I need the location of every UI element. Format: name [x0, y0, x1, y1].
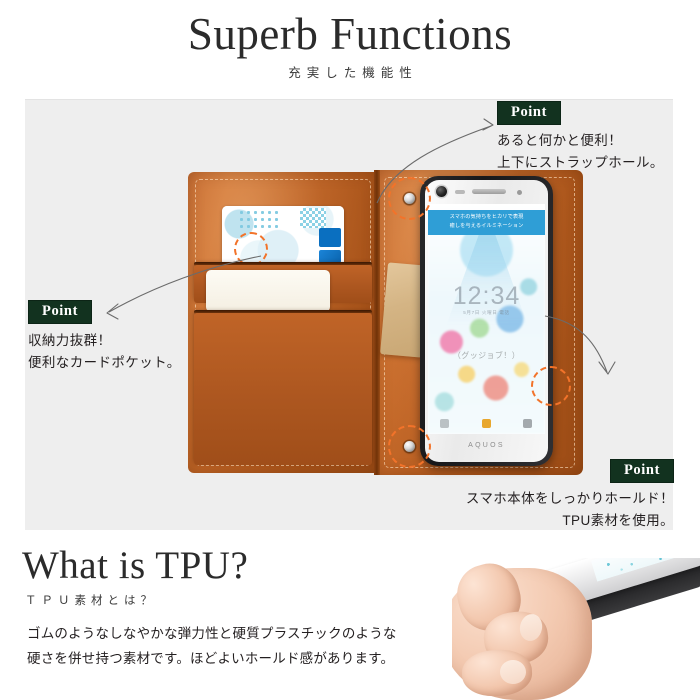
card-dot-motif	[238, 209, 282, 231]
phone-screen: スマホの気持ちをヒカリで表現 癒しを与えるイルミネーション 12:34 5月7日…	[428, 204, 545, 434]
lockscreen-clock: 12:34	[428, 282, 545, 311]
tpu-flex-demo-photo	[452, 558, 700, 700]
screen-banner: スマホの気持ちをヒカリで表現 癒しを与えるイルミネーション	[428, 210, 545, 235]
lockscreen-date: 5月7日 火曜日 電話	[428, 310, 545, 316]
callout-line-1: 収納力抜群！	[28, 330, 181, 352]
point-badge: Point	[610, 459, 674, 483]
callout-line-2: 上下にストラップホール。	[497, 152, 664, 174]
callout-line-1: スマホ本体をしっかりホールド！	[447, 488, 674, 510]
card-highlight-circle	[234, 232, 268, 266]
camera-shortcut-icon	[523, 419, 532, 428]
phone-shortcut-icon	[440, 419, 449, 428]
phone-top-bezel	[425, 180, 548, 204]
card-blue-block-upper	[319, 228, 341, 247]
lockscreen-shortcut-bar	[428, 417, 545, 430]
tpu-section-title: What is TPU?	[22, 543, 248, 588]
callout-text: スマホ本体をしっかりホールド！ TPU素材を使用。	[447, 488, 674, 532]
notification-led-icon	[517, 190, 522, 195]
page-subtitle: 充実した機能性	[0, 62, 700, 81]
tpu-section-body: ゴムのようなしなやかな弾力性と硬質プラスチックのような 硬さを併せ持つ素材です。…	[27, 622, 447, 672]
tpu-section-subtitle: ＴＰＵ素材とは？	[25, 592, 157, 608]
bottom-strap-highlight-circle	[388, 425, 431, 468]
callout-line-2: TPU素材を使用。	[447, 510, 674, 532]
product-feature-page: Superb Functions 充実した機能性	[0, 0, 700, 700]
callout-line-2: 便利なカードポケット。	[28, 352, 181, 374]
tpu-body-line-2: 硬さを併せ持つ素材です。ほどよいホールド感があります。	[27, 647, 447, 672]
tpu-body-line-1: ゴムのようなしなやかな弾力性と硬質プラスチックのような	[27, 622, 447, 647]
earpiece-speaker-icon	[472, 189, 506, 194]
phone-brand-label: AQUOS	[428, 436, 545, 456]
proximity-sensor-icon	[455, 190, 465, 194]
screen-banner-line1: スマホの気持ちをヒカリで表現	[428, 213, 545, 222]
callout-text: あると何かと便利！ 上下にストラップホール。	[497, 130, 664, 174]
point-badge: Point	[497, 101, 561, 125]
card-pocket-slot-2	[194, 313, 372, 465]
blank-card	[206, 270, 330, 312]
page-title: Superb Functions	[0, 10, 700, 59]
callout-card-pocket: Point 収納力抜群！ 便利なカードポケット。	[28, 300, 181, 374]
card-check-motif	[300, 208, 326, 228]
hand	[452, 568, 592, 700]
phone-body: スマホの気持ちをヒカリで表現 癒しを与えるイルミネーション 12:34 5月7日…	[425, 180, 548, 462]
smartphone: スマホの気持ちをヒカリで表現 癒しを与えるイルミネーション 12:34 5月7日…	[420, 176, 553, 466]
screen-banner-line2: 癒しを与えるイルミネーション	[428, 222, 545, 231]
tpu-hold-highlight-circle	[531, 366, 571, 406]
screen-message: （グッジョブ！）	[428, 350, 545, 361]
point-badge: Point	[28, 300, 92, 324]
wallet-case-photo: スマホの気持ちをヒカリで表現 癒しを与えるイルミネーション 12:34 5月7日…	[188, 170, 583, 475]
page-header: Superb Functions 充実した機能性	[0, 0, 700, 92]
callout-line-1: あると何かと便利！	[497, 130, 664, 152]
callout-tpu-hold: Point スマホ本体をしっかりホールド！ TPU素材を使用。	[447, 459, 674, 532]
front-camera-icon	[436, 186, 447, 197]
case-spine	[374, 170, 380, 475]
lock-shortcut-icon	[482, 419, 491, 428]
callout-text: 収納力抜群！ 便利なカードポケット。	[28, 330, 181, 374]
top-strap-highlight-circle	[388, 177, 431, 220]
callout-strap-hole: Point あると何かと便利！ 上下にストラップホール。	[497, 101, 664, 174]
